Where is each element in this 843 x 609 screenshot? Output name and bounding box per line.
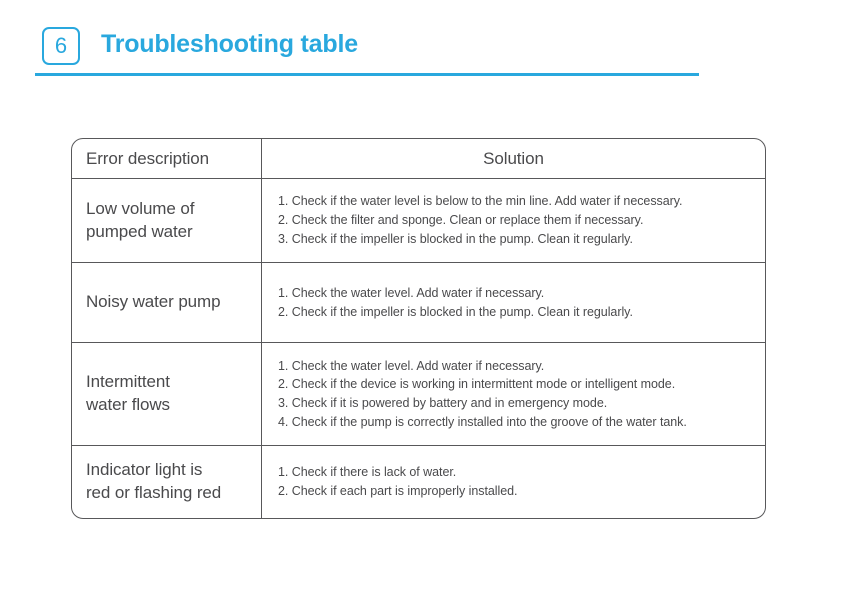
solution-line: 2. Check if the device is working in int… [278,375,687,394]
error-line: Noisy water pump [86,291,220,314]
error-line: pumped water [86,221,194,244]
section-header: 6 Troubleshooting table [35,24,699,76]
cell-solution: 1. Check if the water level is below to … [262,179,765,262]
table-row: Intermittent water flows 1. Check the wa… [72,343,765,446]
column-header-solution: Solution [262,139,765,178]
cell-solution: 1. Check the water level. Add water if n… [262,343,765,445]
error-line: red or flashing red [86,482,221,505]
solution-text: 1. Check the water level. Add water if n… [278,357,687,432]
solution-line: 1. Check the water level. Add water if n… [278,357,687,376]
table-row: Low volume of pumped water 1. Check if t… [72,179,765,263]
cell-error-description: Noisy water pump [72,263,262,342]
error-description-text: Noisy water pump [86,291,220,314]
cell-error-description: Indicator light is red or flashing red [72,446,262,518]
error-line: Low volume of [86,198,194,221]
error-line: Intermittent [86,371,170,394]
solution-line: 3. Check if it is powered by battery and… [278,394,687,413]
solution-text: 1. Check if there is lack of water. 2. C… [278,463,517,501]
solution-line: 2. Check if the impeller is blocked in t… [278,303,633,322]
cell-solution: 1. Check if there is lack of water. 2. C… [262,446,765,518]
column-header-label: Error description [86,149,209,169]
troubleshooting-table: Error description Solution Low volume of… [71,138,766,519]
solution-text: 1. Check the water level. Add water if n… [278,284,633,322]
cell-solution: 1. Check the water level. Add water if n… [262,263,765,342]
solution-line: 2. Check the filter and sponge. Clean or… [278,211,682,230]
solution-line: 2. Check if each part is improperly inst… [278,482,517,501]
cell-error-description: Intermittent water flows [72,343,262,445]
error-line: Indicator light is [86,459,221,482]
column-header-label: Solution [483,149,544,169]
error-description-text: Indicator light is red or flashing red [86,459,221,505]
header-divider-rule [35,73,699,76]
error-line: water flows [86,394,170,417]
section-number: 6 [55,35,67,57]
solution-line: 1. Check the water level. Add water if n… [278,284,633,303]
solution-text: 1. Check if the water level is below to … [278,192,682,248]
cell-error-description: Low volume of pumped water [72,179,262,262]
table-row: Indicator light is red or flashing red 1… [72,446,765,518]
solution-line: 4. Check if the pump is correctly instal… [278,413,687,432]
solution-line: 1. Check if there is lack of water. [278,463,517,482]
error-description-text: Intermittent water flows [86,371,170,417]
table-row: Noisy water pump 1. Check the water leve… [72,263,765,343]
column-header-error-description: Error description [72,139,262,178]
section-number-box: 6 [42,27,80,65]
page-title: Troubleshooting table [101,30,358,59]
solution-line: 1. Check if the water level is below to … [278,192,682,211]
table-header-row: Error description Solution [72,139,765,179]
solution-line: 3. Check if the impeller is blocked in t… [278,230,682,249]
error-description-text: Low volume of pumped water [86,198,194,244]
